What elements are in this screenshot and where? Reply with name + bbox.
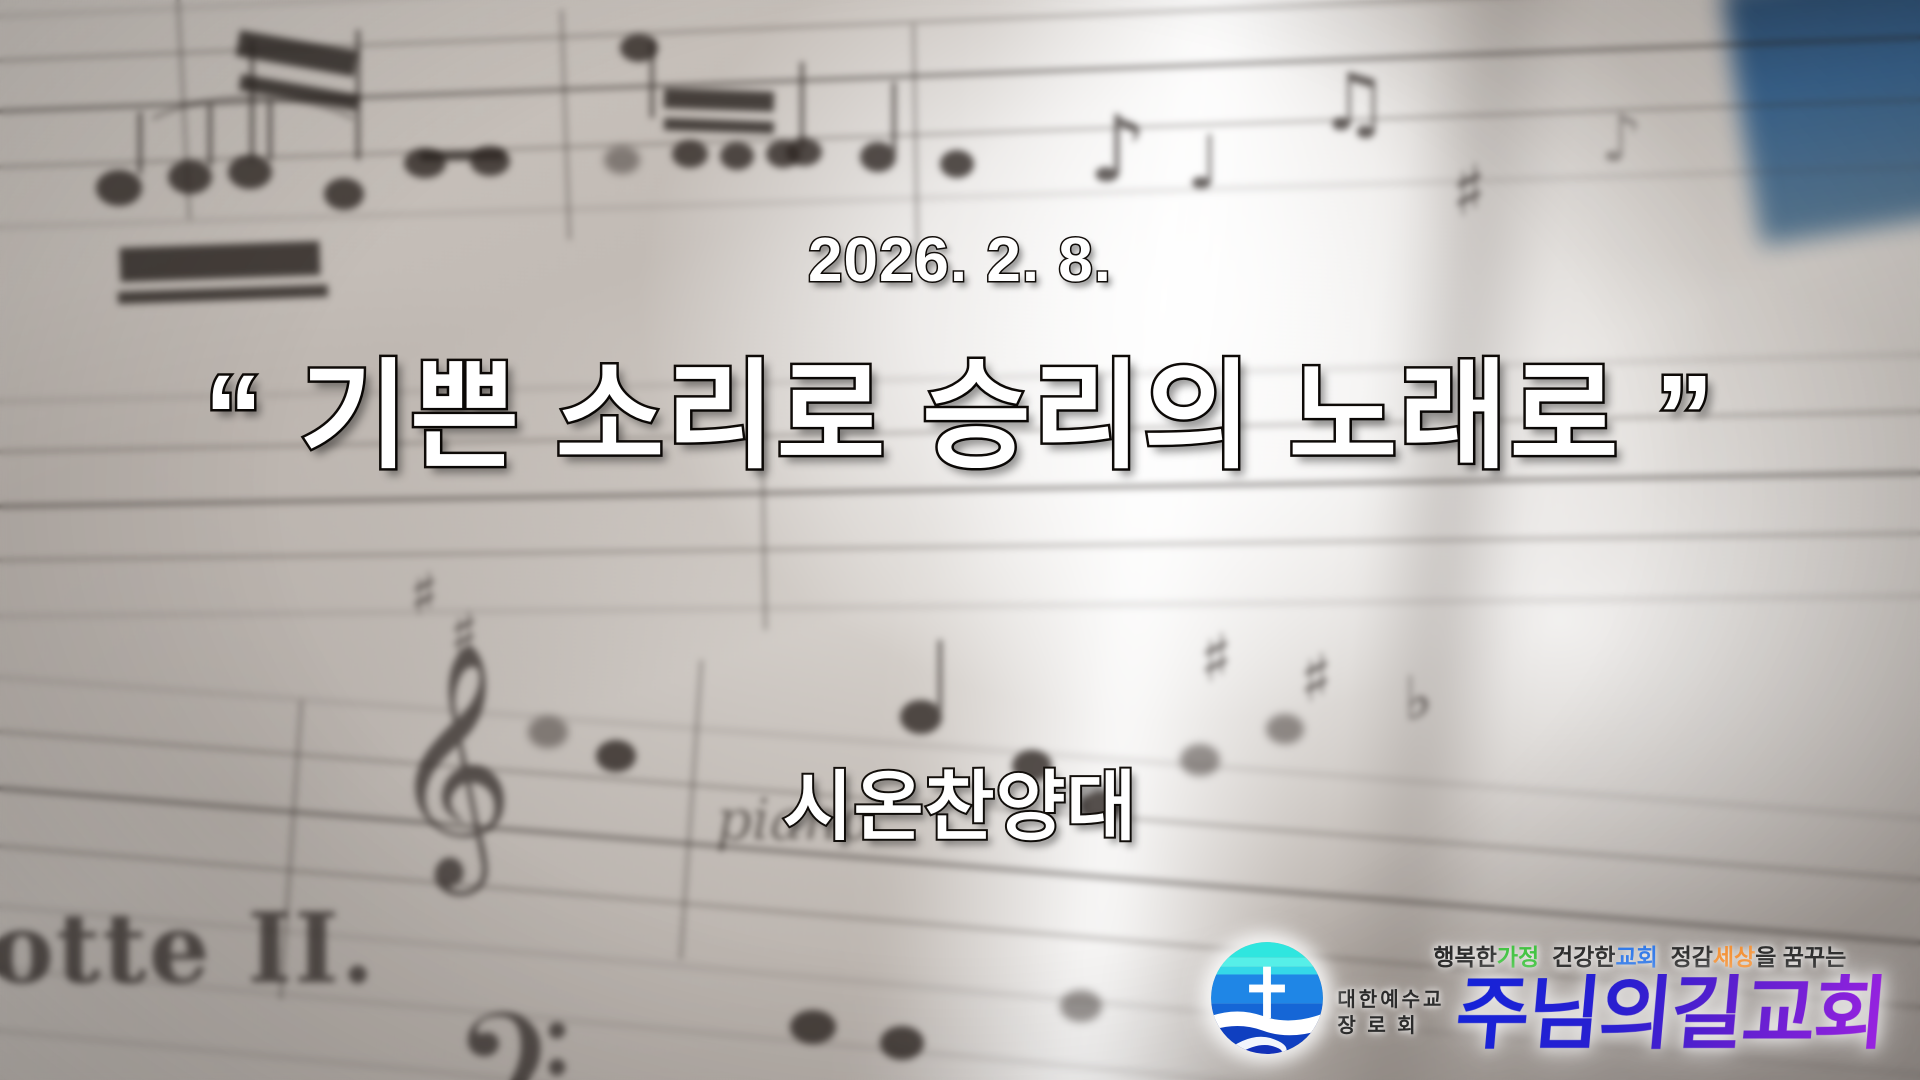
service-date: 2026. 2. 8. bbox=[0, 225, 1920, 296]
logo-name-row: 대한예수교 장 로 회 주님의길교회 bbox=[1337, 974, 1886, 1054]
church-logo: 행복한가정 건강한교회 정감세상을 꿈꾸는 대한예수교 장 로 회 주님의길교회 bbox=[1211, 938, 1886, 1054]
denomination-text: 대한예수교 장 로 회 bbox=[1337, 988, 1444, 1039]
page-title: “ 기쁜 소리로 승리의 노래로 ” bbox=[0, 355, 1920, 480]
denomination-line-2: 장 로 회 bbox=[1337, 1014, 1444, 1040]
tagline-part3-dark: 정감 bbox=[1671, 944, 1713, 970]
tagline-part2-dark: 건강한 bbox=[1552, 944, 1615, 970]
caption-text-layer: 2026. 2. 8. “ 기쁜 소리로 승리의 노래로 ” 시온찬양대 bbox=[0, 0, 1920, 1080]
tagline-part2-accent: 교회 bbox=[1615, 944, 1657, 970]
cross-over-water-circle-icon bbox=[1211, 942, 1323, 1054]
tagline-part3-accent: 세상 bbox=[1713, 944, 1755, 970]
logo-text-group: 행복한가정 건강한교회 정감세상을 꿈꾸는 대한예수교 장 로 회 주님의길교회 bbox=[1337, 938, 1886, 1054]
logo-tagline: 행복한가정 건강한교회 정감세상을 꿈꾸는 bbox=[1433, 938, 1846, 972]
tagline-part3-tail: 을 꿈꾸는 bbox=[1755, 944, 1846, 970]
performer-name: 시온찬양대 bbox=[0, 745, 1920, 855]
tagline-gap-2 bbox=[1658, 944, 1671, 970]
denomination-line-1: 대한예수교 bbox=[1337, 988, 1444, 1014]
worship-title-slide: ♪ ♩ ♫ ♯ ♪ 𝄞 𝄢 ♯ ♯ bbox=[0, 0, 1920, 1080]
tagline-gap-1 bbox=[1539, 944, 1552, 970]
tagline-part1-dark: 행복한 bbox=[1433, 944, 1496, 970]
tagline-part1-accent: 가정 bbox=[1497, 944, 1539, 970]
church-name: 주님의길교회 bbox=[1453, 974, 1890, 1054]
